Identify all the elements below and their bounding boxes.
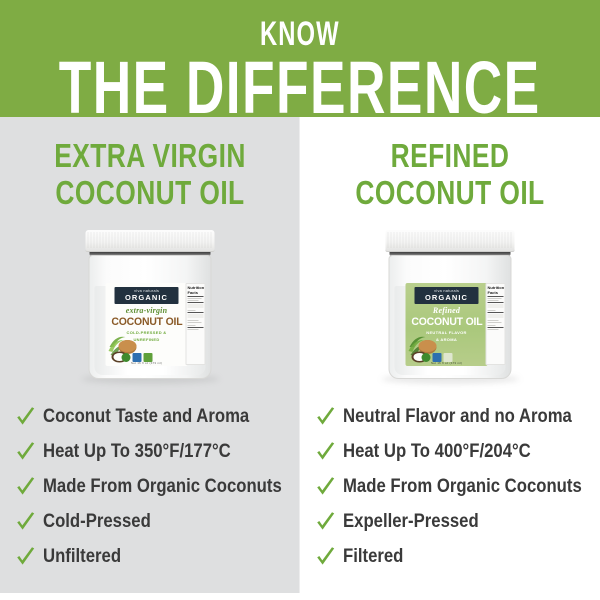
column-extra-virgin: EXTRA VIRGIN COCONUT OIL viva naturals O… xyxy=(0,117,300,593)
column-refined: REFINED COCONUT OIL viva naturals ORGANI… xyxy=(300,117,600,593)
list-item: Made From Organic Coconuts xyxy=(300,469,600,504)
bottom-strip xyxy=(0,593,600,600)
nutrition-row xyxy=(488,310,496,311)
feature-text: Unfiltered xyxy=(43,547,121,567)
nutrition-row xyxy=(488,322,502,323)
nutrition-facts-panel: Nutrition Facts xyxy=(186,283,206,365)
net-weight-text: Net 16 fl oz (473 ml) xyxy=(406,361,488,365)
product-variant: extra-virgin xyxy=(126,306,168,315)
feature-text: Made From Organic Coconuts xyxy=(43,477,282,497)
product-label: viva naturals ORGANIC Refined COCONUT OI… xyxy=(406,283,488,366)
brand-name-large: ORGANIC xyxy=(125,294,168,302)
column-title-refined: REFINED COCONUT OIL xyxy=(300,139,600,209)
nutrition-row xyxy=(188,298,202,299)
feature-text: Expeller-Pressed xyxy=(343,512,479,532)
nutrition-block xyxy=(488,304,504,308)
column-title-line1: EXTRA VIRGIN xyxy=(30,139,270,172)
product-name: COCONUT OIL xyxy=(411,316,482,328)
column-title-extra-virgin: EXTRA VIRGIN COCONUT OIL xyxy=(0,139,300,209)
feature-text: Cold-Pressed xyxy=(43,512,151,532)
brand-name-large: ORGANIC xyxy=(425,294,468,302)
list-item: Filtered xyxy=(300,539,600,574)
list-item: Coconut Taste and Aroma xyxy=(0,399,300,434)
checkmark-icon xyxy=(314,440,336,464)
nutrition-title-line2: Facts xyxy=(188,291,204,296)
feature-text: Neutral Flavor and no Aroma xyxy=(343,407,572,427)
feature-text: Heat Up To 350°F/177°C xyxy=(43,442,231,462)
nutrition-row xyxy=(188,320,199,321)
nutrition-row xyxy=(188,322,202,323)
jar-body: viva naturals ORGANIC Refined COCONUT OI… xyxy=(389,255,512,379)
nutrition-divider xyxy=(488,312,504,313)
product-variant: Refined xyxy=(433,306,460,315)
nutrition-block xyxy=(188,314,204,318)
list-item: Heat Up To 350°F/177°C xyxy=(0,434,300,469)
nutrition-row xyxy=(488,300,499,301)
column-divider xyxy=(299,117,300,593)
feature-text: Heat Up To 400°F/204°C xyxy=(343,442,531,462)
jar-body: viva naturals ORGANIC extra-virgin COCON… xyxy=(89,255,212,379)
brand-name-small: viva naturals xyxy=(134,289,159,294)
nutrition-title-line2: Facts xyxy=(488,291,504,296)
nutrition-block xyxy=(488,314,504,318)
checkmark-icon xyxy=(314,510,336,534)
brand-box: viva naturals ORGANIC xyxy=(115,287,179,304)
nutrition-divider xyxy=(488,327,504,328)
jar-lid xyxy=(386,230,515,252)
nutrition-row xyxy=(488,325,496,326)
nutrition-block xyxy=(188,304,204,308)
product-image-refined: viva naturals ORGANIC Refined COCONUT OI… xyxy=(300,230,600,383)
nutrition-divider xyxy=(488,302,504,303)
nutrition-row xyxy=(188,329,199,330)
column-title-line2: COCONUT OIL xyxy=(330,176,570,209)
feature-text: Made From Organic Coconuts xyxy=(343,477,582,497)
nutrition-divider xyxy=(188,302,204,303)
product-label: viva naturals ORGANIC extra-virgin COCON… xyxy=(106,283,188,366)
checkmark-icon xyxy=(14,475,36,499)
list-item: Made From Organic Coconuts xyxy=(0,469,300,504)
product-image-extra-virgin: viva naturals ORGANIC extra-virgin COCON… xyxy=(0,230,300,383)
feature-text: Coconut Taste and Aroma xyxy=(43,407,249,427)
list-item: Neutral Flavor and no Aroma xyxy=(300,399,600,434)
nutrition-row xyxy=(188,300,199,301)
list-item: Heat Up To 400°F/204°C xyxy=(300,434,600,469)
column-title-line2: COCONUT OIL xyxy=(30,176,270,209)
checkmark-icon xyxy=(314,405,336,429)
header-title-difference: THE DIFFERENCE xyxy=(59,53,541,117)
jar-lid xyxy=(86,230,215,252)
brand-name-small: viva naturals xyxy=(434,289,459,294)
feature-list-refined: Neutral Flavor and no Aroma Heat Up To 4… xyxy=(300,399,600,574)
nutrition-row xyxy=(488,329,499,330)
checkmark-icon xyxy=(14,510,36,534)
feature-list-extra-virgin: Coconut Taste and Aroma Heat Up To 350°F… xyxy=(0,399,300,574)
checkmark-icon xyxy=(14,440,36,464)
jar-refined: viva naturals ORGANIC Refined COCONUT OI… xyxy=(385,230,516,381)
nutrition-divider xyxy=(188,312,204,313)
checkmark-icon xyxy=(314,545,336,569)
nutrition-facts-panel: Nutrition Facts xyxy=(486,283,506,365)
nutrition-row xyxy=(488,298,502,299)
nutrition-divider xyxy=(488,296,504,297)
list-item: Cold-Pressed xyxy=(0,504,300,539)
checkmark-icon xyxy=(14,405,36,429)
infographic-page: KNOW THE DIFFERENCE EXTRA VIRGIN COCONUT… xyxy=(0,0,600,600)
feature-text: Filtered xyxy=(343,547,403,567)
nutrition-row xyxy=(188,310,196,311)
nutrition-divider xyxy=(188,327,204,328)
nutrition-row xyxy=(488,320,499,321)
nutrition-row xyxy=(188,325,196,326)
product-name: COCONUT OIL xyxy=(111,316,182,328)
list-item: Unfiltered xyxy=(0,539,300,574)
checkmark-icon xyxy=(14,545,36,569)
column-title-line1: REFINED xyxy=(330,139,570,172)
header-banner: KNOW THE DIFFERENCE xyxy=(0,0,600,117)
net-weight-text: Net 16 fl oz (473 ml) xyxy=(106,361,188,365)
comparison-panels: EXTRA VIRGIN COCONUT OIL viva naturals O… xyxy=(0,117,600,593)
list-item: Expeller-Pressed xyxy=(300,504,600,539)
nutrition-divider xyxy=(188,296,204,297)
jar-extra-virgin: viva naturals ORGANIC extra-virgin COCON… xyxy=(85,230,216,381)
checkmark-icon xyxy=(314,475,336,499)
brand-box: viva naturals ORGANIC xyxy=(415,287,479,304)
